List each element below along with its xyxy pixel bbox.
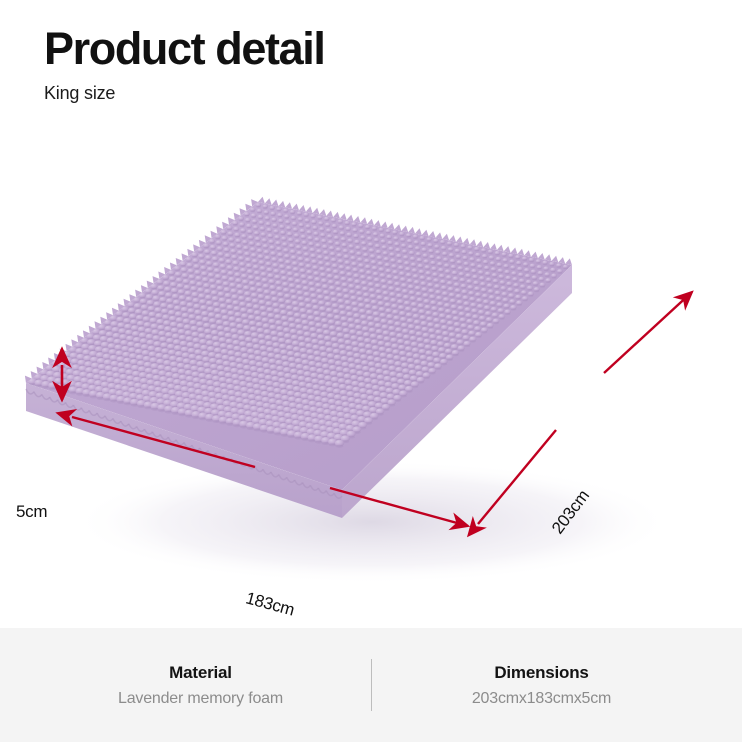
product-illustration: 5cm 183cm 203cm — [0, 130, 742, 620]
page-subtitle: King size — [44, 83, 644, 104]
spec-material: Material Lavender memory foam — [31, 663, 371, 708]
dimension-label-thickness: 5cm — [16, 502, 47, 522]
length-arrow-203cm-upper — [604, 292, 692, 373]
spec-dimensions-value: 203cmx183cmx5cm — [372, 690, 712, 708]
spec-material-value: Lavender memory foam — [31, 690, 371, 708]
header: Product detail King size — [44, 26, 644, 104]
mattress-diagram — [0, 130, 742, 620]
spec-material-label: Material — [31, 663, 371, 683]
page-title: Product detail — [44, 26, 644, 71]
spec-dimensions: Dimensions 203cmx183cmx5cm — [372, 663, 712, 708]
spec-bar: Material Lavender memory foam Dimensions… — [0, 628, 742, 742]
spec-dimensions-label: Dimensions — [372, 663, 712, 683]
